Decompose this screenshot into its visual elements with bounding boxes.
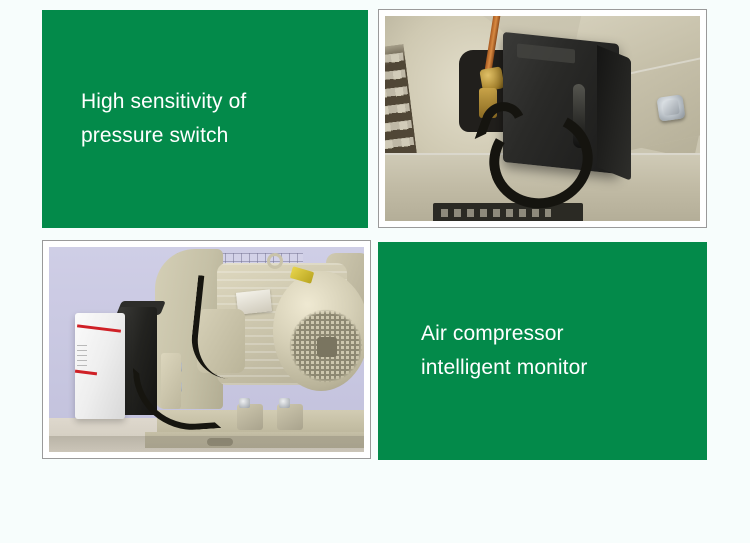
- motor-fan-hub: [317, 337, 337, 357]
- floor-shadow: [49, 436, 364, 452]
- compressor-label-strip: [433, 203, 583, 221]
- photo-frame-intelligent-monitor: [42, 240, 371, 459]
- photo-frame-pressure-switch: [378, 9, 707, 228]
- feature-panel-intelligent-monitor: Air compressor intelligent monitor: [378, 242, 707, 460]
- hex-bolt-icon: [656, 94, 685, 121]
- pressure-switch-side: [597, 45, 631, 181]
- panel-heading-line-2: pressure switch: [81, 119, 368, 153]
- feature-grid: High sensitivity of pressure switch: [0, 0, 750, 543]
- photo-intelligent-monitor: [49, 247, 364, 452]
- monitor-vent-slot: [77, 345, 87, 367]
- photo-pressure-switch: [385, 16, 700, 221]
- mounting-nut: [239, 398, 250, 408]
- panel-heading-line-1: Air compressor: [421, 317, 707, 351]
- panel-heading-line-1: High sensitivity of: [81, 85, 368, 119]
- feature-panel-pressure-switch: High sensitivity of pressure switch: [42, 10, 368, 228]
- mounting-nut: [279, 398, 290, 408]
- panel-heading-line-2: intelligent monitor: [421, 351, 707, 385]
- lifting-eyebolt-icon: [267, 253, 283, 269]
